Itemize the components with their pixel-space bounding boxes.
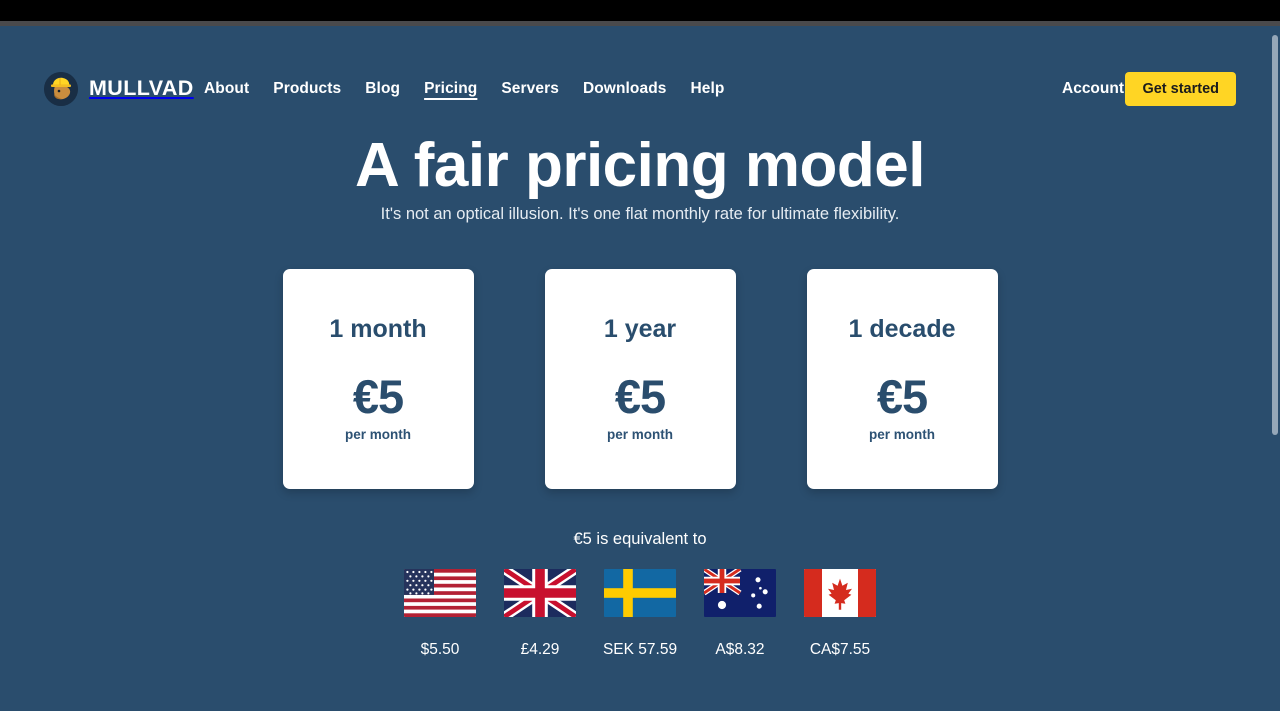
site-header: MULLVAD About Products Blog Pricing Serv… (0, 26, 1280, 102)
scrollbar-thumb[interactable] (1272, 35, 1278, 435)
currency-item-aud: A$8.32 (704, 569, 776, 658)
currency-item-sek: SEK 57.59 (604, 569, 676, 658)
currency-value: SEK 57.59 (603, 642, 677, 658)
get-started-button[interactable]: Get started (1125, 72, 1236, 106)
browser-chrome-bar (0, 0, 1280, 21)
flag-gb-icon (504, 569, 576, 617)
plan-period: per month (869, 428, 935, 442)
brand-name: MULLVAD (89, 78, 194, 100)
plan-term: 1 decade (848, 317, 955, 342)
mullvad-mole-icon (44, 72, 78, 106)
main-nav: About Products Blog Pricing Servers Down… (204, 80, 725, 98)
plan-price: €5 (615, 373, 665, 420)
currency-value: A$8.32 (715, 642, 764, 658)
plan-term: 1 month (329, 317, 426, 342)
currency-item-cad: CA$7.55 (804, 569, 876, 658)
nav-item-downloads[interactable]: Downloads (583, 80, 667, 98)
pricing-card-list: 1 month €5 per month 1 year €5 per month… (0, 269, 1280, 489)
nav-item-pricing[interactable]: Pricing (424, 80, 477, 98)
plan-term: 1 year (604, 317, 676, 342)
currency-item-usd: $5.50 (404, 569, 476, 658)
nav-item-help[interactable]: Help (691, 80, 725, 98)
plan-price: €5 (877, 373, 927, 420)
currency-value: CA$7.55 (810, 642, 870, 658)
pricing-card-1-year[interactable]: 1 year €5 per month (545, 269, 736, 489)
flag-ca-icon (804, 569, 876, 617)
nav-item-servers[interactable]: Servers (501, 80, 559, 98)
pricing-card-1-decade[interactable]: 1 decade €5 per month (807, 269, 998, 489)
currency-item-gbp: £4.29 (504, 569, 576, 658)
flag-us-icon (404, 569, 476, 617)
plan-price: €5 (353, 373, 403, 420)
nav-item-about[interactable]: About (204, 80, 249, 98)
flag-se-icon (604, 569, 676, 617)
page-scrollbar[interactable] (1266, 26, 1280, 711)
equivalence-heading: €5 is equivalent to (0, 528, 1280, 551)
currency-value: $5.50 (421, 642, 460, 658)
nav-item-products[interactable]: Products (273, 80, 341, 98)
brand-logo-link[interactable]: MULLVAD (44, 72, 194, 106)
page-content: MULLVAD About Products Blog Pricing Serv… (0, 26, 1280, 711)
plan-period: per month (345, 428, 411, 442)
currency-value: £4.29 (521, 642, 560, 658)
page-subtitle: It's not an optical illusion. It's one f… (0, 202, 1280, 227)
nav-item-blog[interactable]: Blog (365, 80, 400, 98)
flag-au-icon (704, 569, 776, 617)
pricing-card-1-month[interactable]: 1 month €5 per month (283, 269, 474, 489)
plan-period: per month (607, 428, 673, 442)
currency-list: $5.50 £4.29 (0, 569, 1280, 658)
page-title: A fair pricing model (0, 130, 1280, 201)
account-link[interactable]: Account (1062, 80, 1124, 98)
screenshot-root: MULLVAD About Products Blog Pricing Serv… (0, 0, 1280, 711)
